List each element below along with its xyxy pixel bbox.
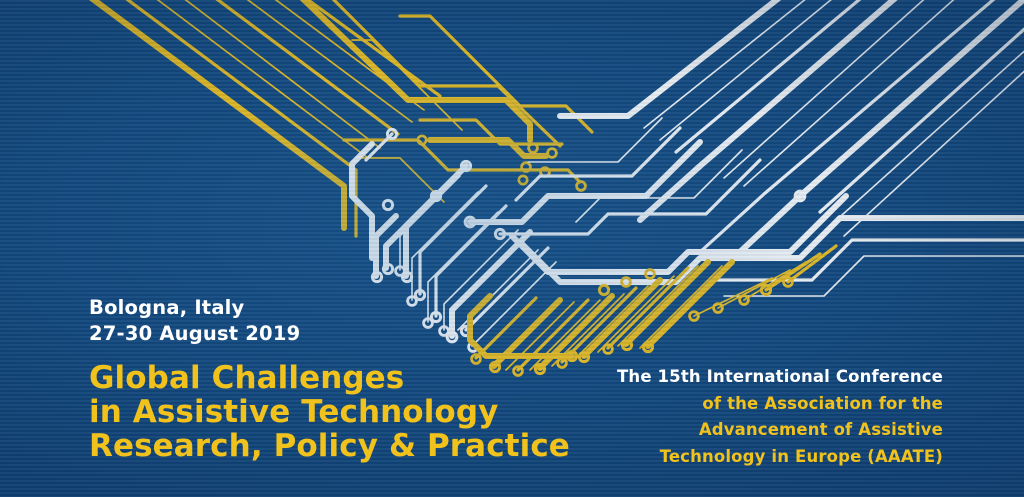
event-location-block: Bologna, Italy 27-30 August 2019 <box>89 295 300 346</box>
event-dates: 27-30 August 2019 <box>89 321 300 347</box>
title-line-2: in Assistive Technology <box>89 395 570 429</box>
white-left-hand-fingers <box>352 134 556 346</box>
conference-line-3: Advancement of Assistive <box>617 417 943 444</box>
title-line-3: Research, Policy & Practice <box>89 429 570 463</box>
title-line-1: Global Challenges <box>89 361 570 395</box>
conference-line-2: of the Association for the <box>617 391 943 418</box>
event-city: Bologna, Italy <box>89 295 300 321</box>
conference-line-4: Technology in Europe (AAATE) <box>617 444 943 471</box>
conference-line-1: The 15th International Conference <box>617 364 943 391</box>
conference-attribution-block: The 15th International Conference of the… <box>617 364 943 470</box>
page-title: Global Challenges in Assistive Technolog… <box>89 361 570 463</box>
conference-banner: .yt{fill:none;stroke:#f2c21c;stroke-line… <box>0 0 1024 497</box>
